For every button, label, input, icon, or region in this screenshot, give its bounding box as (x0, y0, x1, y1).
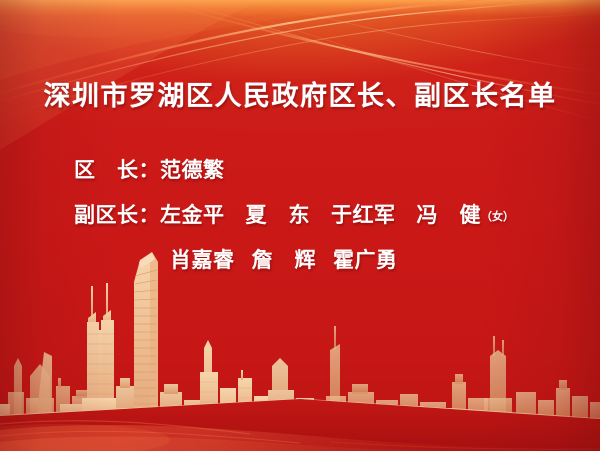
poster-canvas: 深圳市罗湖区人民政府区长、副区长名单 区 长：范德繁 副区长：左金平夏 东于红军… (0, 0, 600, 451)
official-name-district-mayor: 范德繁 (160, 158, 225, 182)
page-title: 深圳市罗湖区人民政府区长、副区长名单 (0, 74, 600, 113)
official-name-deputy-2: 夏 东 (246, 203, 311, 227)
list-item: 副区长：左金平夏 东于红军冯 健（女） (0, 193, 600, 238)
official-name-deputy-7: 霍广勇 (333, 248, 398, 272)
official-name-deputy-1: 左金平 (160, 203, 225, 227)
list-item: 肖嘉睿詹 辉霍广勇 (0, 238, 600, 283)
role-label-deputy-mayors: 副区长： (74, 203, 160, 227)
officials-list: 区 长：范德繁 副区长：左金平夏 东于红军冯 健（女） 肖嘉睿詹 辉霍广勇 (0, 148, 600, 283)
official-name-deputy-5: 肖嘉睿 (170, 248, 235, 272)
official-name-deputy-4: 冯 健 (417, 203, 482, 227)
official-name-deputy-3: 于红军 (331, 203, 396, 227)
gender-annotation-female: （女） (481, 211, 514, 223)
list-item: 区 长：范德繁 (0, 148, 600, 193)
official-name-deputy-6: 詹 辉 (252, 248, 317, 272)
role-label-district-mayor: 区 长： (74, 158, 160, 182)
poster-text-content: 深圳市罗湖区人民政府区长、副区长名单 区 长：范德繁 副区长：左金平夏 东于红军… (0, 0, 600, 451)
